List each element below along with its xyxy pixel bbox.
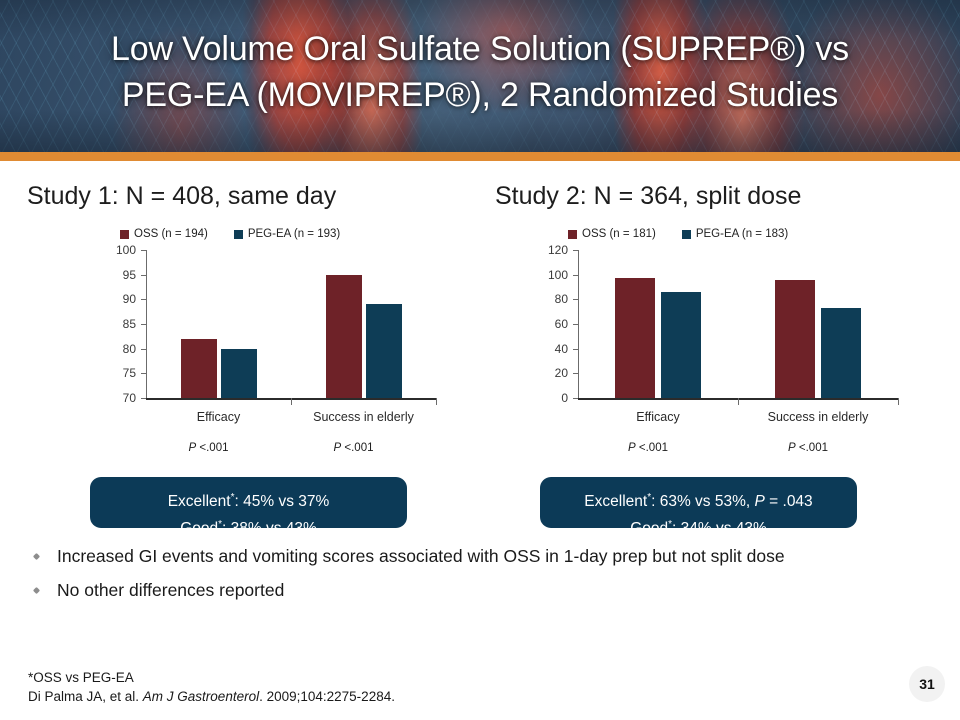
x-axis-category-label: Success in elderly <box>768 410 869 424</box>
legend-item-peg-ea: PEG-EA (n = 183) <box>682 228 788 240</box>
y-axis-tick <box>573 250 578 251</box>
p-value-annotation: P <.001 <box>334 442 374 454</box>
asterisk-marker: * <box>668 519 672 530</box>
study-1-heading: Study 1: N = 408, same day <box>27 182 336 211</box>
bar-oss <box>615 278 655 398</box>
y-axis-tick <box>141 250 146 251</box>
y-axis-tick-label: 0 <box>561 391 568 405</box>
y-axis-tick-label: 85 <box>123 317 136 331</box>
bullet-marker-icon <box>33 587 40 594</box>
bullet-text: Increased GI events and vomiting scores … <box>57 546 785 566</box>
y-axis-tick-label: 120 <box>548 243 568 257</box>
y-axis-tick <box>141 373 146 374</box>
p-italic: P <box>755 493 765 510</box>
callout-line: Excellent*: 63% vs 53%, P = .043 <box>584 493 812 510</box>
bar-oss <box>181 339 217 398</box>
y-axis-tick-label: 20 <box>555 366 568 380</box>
legend-label-oss: OSS (n = 194) <box>134 228 208 240</box>
legend-swatch-oss-icon <box>120 230 129 239</box>
legend-item-oss: OSS (n = 181) <box>568 228 656 240</box>
bullet-marker-icon <box>33 553 40 560</box>
legend-swatch-oss-icon <box>568 230 577 239</box>
p-value-annotation: P <.001 <box>628 442 668 454</box>
y-axis-tick <box>573 373 578 374</box>
bullet-list: Increased GI events and vomiting scores … <box>28 545 923 613</box>
p-value-annotation: P <.001 <box>788 442 828 454</box>
chart-1-plot-area: 707580859095100EfficacyP <.001Success in… <box>146 250 436 398</box>
callout-line: Good*: 38% vs 43% <box>180 520 317 537</box>
y-axis-tick <box>573 299 578 300</box>
asterisk-marker: * <box>218 519 222 530</box>
citation: Di Palma JA, et al. Am J Gastroenterol. … <box>28 687 395 706</box>
title-banner: Low Volume Oral Sulfate Solution (SUPREP… <box>0 0 960 152</box>
y-axis-tick <box>573 349 578 350</box>
citation-authors: Di Palma JA, et al. <box>28 689 143 704</box>
y-axis-tick-label: 80 <box>123 342 136 356</box>
page-title: Low Volume Oral Sulfate Solution (SUPREP… <box>0 26 960 118</box>
legend-label-peg-ea: PEG-EA (n = 193) <box>248 228 340 240</box>
study-2-heading: Study 2: N = 364, split dose <box>495 182 801 211</box>
list-item: Increased GI events and vomiting scores … <box>28 545 923 568</box>
bullet-text: No other differences reported <box>57 580 284 600</box>
callout-line: Good*: 34% vs 43% <box>630 520 767 537</box>
legend-swatch-peg-ea-icon <box>234 230 243 239</box>
y-axis-tick <box>141 299 146 300</box>
y-axis-tick <box>141 324 146 325</box>
asterisk-marker: * <box>231 492 235 503</box>
y-axis-tick-label: 100 <box>548 268 568 282</box>
y-axis-tick-label: 75 <box>123 366 136 380</box>
callout-line: Excellent*: 45% vs 37% <box>168 493 330 510</box>
page-number-badge: 31 <box>909 666 945 702</box>
bar-peg-ea <box>221 349 257 398</box>
bar-peg-ea <box>821 308 861 398</box>
y-axis-line <box>146 250 147 398</box>
slide: Low Volume Oral Sulfate Solution (SUPREP… <box>0 0 960 720</box>
y-axis-tick-label: 90 <box>123 292 136 306</box>
y-axis-tick <box>141 398 146 399</box>
axis-end-tick <box>898 398 899 405</box>
category-separator-tick <box>738 398 739 405</box>
y-axis-tick-label: 95 <box>123 268 136 282</box>
asterisk-marker: * <box>647 492 651 503</box>
chart-2-legend: OSS (n = 181) PEG-EA (n = 183) <box>568 228 788 240</box>
bar-peg-ea <box>366 304 402 398</box>
legend-item-peg-ea: PEG-EA (n = 193) <box>234 228 340 240</box>
bar-oss <box>326 275 362 398</box>
y-axis-tick-label: 100 <box>116 243 136 257</box>
bar-peg-ea <box>661 292 701 398</box>
legend-label-peg-ea: PEG-EA (n = 183) <box>696 228 788 240</box>
category-separator-tick <box>291 398 292 405</box>
x-axis-category-label: Efficacy <box>197 410 241 424</box>
citation-detail: . 2009;104:2275-2284. <box>259 689 395 704</box>
y-axis-tick-label: 70 <box>123 391 136 405</box>
chart-1-legend: OSS (n = 194) PEG-EA (n = 193) <box>120 228 340 240</box>
x-axis-category-label: Success in elderly <box>313 410 414 424</box>
list-item: No other differences reported <box>28 579 923 602</box>
study-2-chart: OSS (n = 181) PEG-EA (n = 183) 020406080… <box>520 228 900 458</box>
bar-oss <box>775 280 815 398</box>
citation-journal: Am J Gastroenterol <box>143 689 259 704</box>
p-value-annotation: P <.001 <box>189 442 229 454</box>
footnote-line-1: *OSS vs PEG-EA <box>28 668 395 687</box>
y-axis-tick <box>573 398 578 399</box>
axis-end-tick <box>436 398 437 405</box>
y-axis-tick-label: 80 <box>555 292 568 306</box>
study-1-chart: OSS (n = 194) PEG-EA (n = 193) 707580859… <box>98 228 448 458</box>
y-axis-tick <box>141 275 146 276</box>
y-axis-tick-label: 40 <box>555 342 568 356</box>
accent-rule <box>0 152 960 161</box>
footnote: *OSS vs PEG-EA Di Palma JA, et al. Am J … <box>28 668 395 706</box>
study-2-callout: Excellent*: 63% vs 53%, P = .043Good*: 3… <box>540 477 857 528</box>
chart-2-plot-area: 020406080100120EfficacyP <.001Success in… <box>578 250 898 398</box>
y-axis-line <box>578 250 579 398</box>
study-1-callout: Excellent*: 45% vs 37%Good*: 38% vs 43% <box>90 477 407 528</box>
legend-swatch-peg-ea-icon <box>682 230 691 239</box>
x-axis-category-label: Efficacy <box>636 410 680 424</box>
y-axis-tick <box>573 275 578 276</box>
y-axis-tick-label: 60 <box>555 317 568 331</box>
y-axis-tick <box>573 324 578 325</box>
legend-label-oss: OSS (n = 181) <box>582 228 656 240</box>
y-axis-tick <box>141 349 146 350</box>
legend-item-oss: OSS (n = 194) <box>120 228 208 240</box>
